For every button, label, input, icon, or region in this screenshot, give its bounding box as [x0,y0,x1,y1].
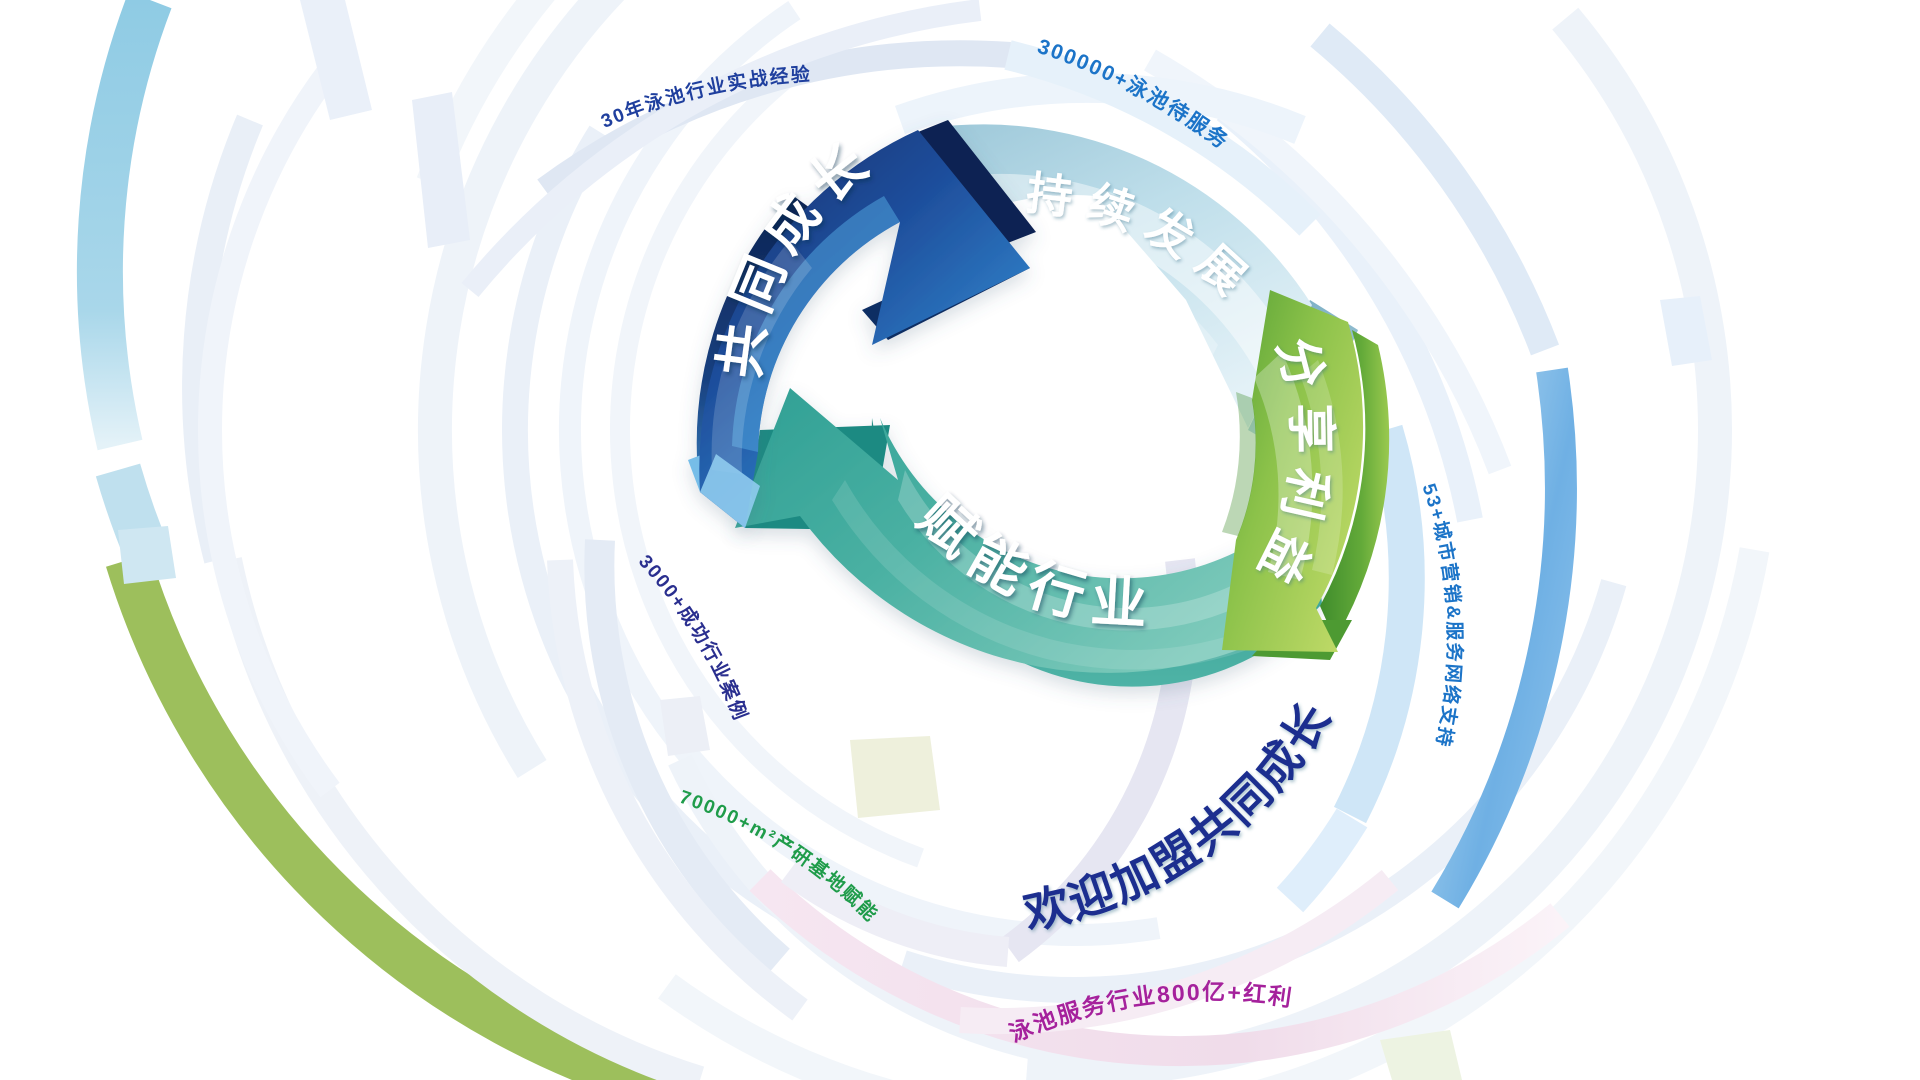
arc-label-cases: 3000+成功行业案例 [634,551,753,724]
arc-label-pools-waiting: 300000+泳池待服务 [1034,35,1233,154]
arc-label-welcome: 欢迎加盟共同成长 [1018,693,1341,940]
diagram-canvas: 共同成长 持续发展 分享利益 赋能行业 30年泳池行业实战经验 300000+泳… [0,0,1920,1080]
arc-label-city-network: 53+城市营销&服务网络支持 [1417,481,1466,750]
arc-label-experience: 30年泳池行业实战经验 [598,63,812,133]
segment-label-empower: 赋能行业 [906,484,1160,636]
arc-label-market-size: 泳池服务行业800亿+红利 [1005,979,1295,1047]
arc-label-rd-base: 70000+m²产研基地赋能 [677,787,884,927]
diagram-labels: 共同成长 持续发展 分享利益 赋能行业 30年泳池行业实战经验 300000+泳… [0,0,1920,1080]
segment-label-profit: 分享利益 [1243,332,1339,602]
segment-label-growth: 共同成长 [710,127,887,381]
segment-label-sustain: 持续发展 [1024,167,1267,314]
